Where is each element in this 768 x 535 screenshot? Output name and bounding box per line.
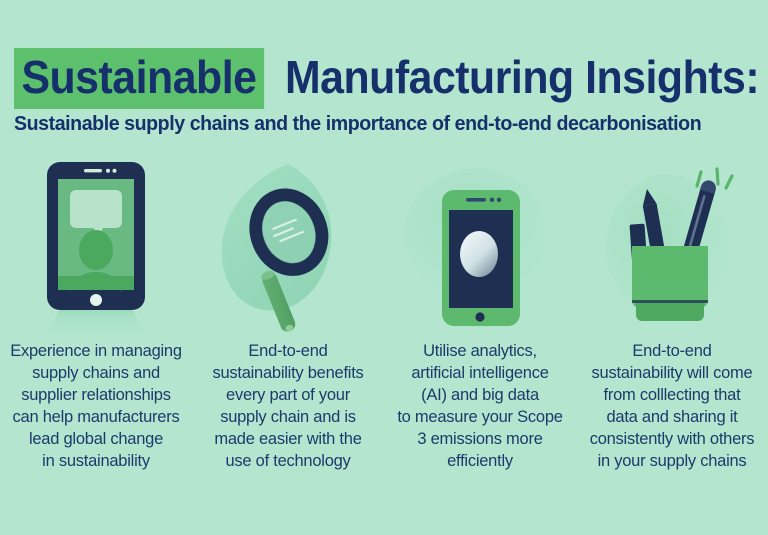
insight-caption: Experience in managing supply chains and… [0,340,192,472]
insight-caption: Utilise analytics, artificial intelligen… [384,340,576,472]
insight-column: Experience in managing supply chains and… [0,150,192,472]
magnifying-glass-icon [192,150,384,340]
insight-column: End-to-end sustainability benefits every… [192,150,384,472]
title-highlight-word: Sustainable [14,48,264,109]
insight-columns: Experience in managing supply chains and… [0,150,768,472]
page-title: Sustainable Manufacturing Insights: [14,48,768,109]
smartphone-chat-person-icon [0,150,192,340]
insight-caption: End-to-end sustainability benefits every… [192,340,384,472]
insight-column: Utilise analytics, artificial intelligen… [384,150,576,472]
insight-column: End-to-end sustainability will come from… [576,150,768,472]
pen-cup-icon [576,150,768,340]
smartphone-analytics-icon [384,150,576,340]
infographic-root: Sustainable Manufacturing Insights: Sust… [0,0,768,535]
insight-caption: End-to-end sustainability will come from… [576,340,768,472]
page-subtitle: Sustainable supply chains and the import… [14,112,701,136]
title-remainder: Manufacturing Insights: [285,51,759,104]
